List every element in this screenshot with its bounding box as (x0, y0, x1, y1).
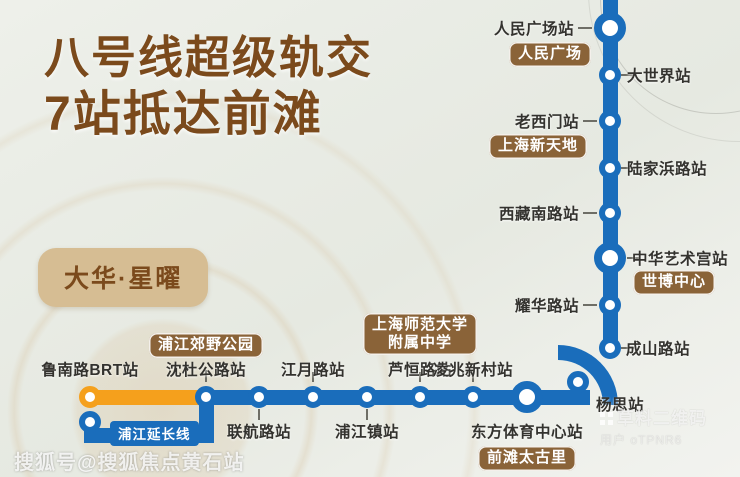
poi-badge-renmin-guangchang: 人民广场 (509, 42, 591, 67)
station-label-shendu-gonglu: 沈杜公路站 (166, 358, 246, 380)
station-dot-lujiabang[interactable] (599, 157, 621, 179)
station-dot-shendu-gonglu[interactable] (195, 386, 217, 408)
station-label-zhonghua-yishugong: 中华艺术宫站 (632, 247, 728, 269)
poi-line-2: 附属中学 (388, 334, 452, 351)
station-label-jiangyuelu: 江月路站 (281, 358, 345, 380)
headline-line-1: 八号线超级轨交 (44, 34, 373, 82)
leader-tick (366, 409, 368, 420)
station-dot-lunanlu-brt[interactable] (79, 386, 101, 408)
station-dot-dongfang-tiyu-zhongxin[interactable] (511, 381, 543, 413)
leader-tick (583, 120, 597, 122)
poi-badge-shanghai-shifan-fuzhong: 上海师范大学 附属中学 (363, 313, 477, 355)
leader-tick (578, 27, 592, 29)
caoliao-watermark-text: 草料二维码 (617, 409, 707, 428)
station-dot-luhenglu[interactable] (409, 386, 431, 408)
station-dot-laoximen[interactable] (599, 110, 621, 132)
leader-tick (258, 409, 260, 420)
station-label-yaohualu: 耀华路站 (515, 294, 579, 316)
metro-line-poster: 八号线超级轨交 7站抵达前滩 大华·星曜 浦江延长线 人民广场站 人民广场 大世… (0, 0, 740, 477)
station-dot-lianhanglu[interactable] (248, 386, 270, 408)
station-dot-lingzhao-xincun[interactable] (462, 386, 484, 408)
station-label-dashijie: 大世界站 (627, 64, 691, 86)
headline-block: 八号线超级轨交 7站抵达前滩 (44, 34, 373, 141)
station-dot-jiangyuelu[interactable] (302, 386, 324, 408)
station-label-lunanlu-brt: 鲁南路BRT站 (41, 358, 138, 380)
project-name-badge: 大华·星曜 (38, 248, 208, 307)
station-dot-yangsi[interactable] (567, 371, 589, 393)
poi-line-1: 上海师范大学 (372, 316, 468, 333)
station-label-lingzhao-xincun: 凌兆新村站 (433, 358, 513, 380)
headline-line-2: 7站抵达前滩 (44, 90, 373, 141)
station-dot-loop-terminus[interactable] (79, 411, 101, 433)
caoliao-watermark-title: 草料二维码 (600, 404, 707, 429)
station-label-lianhanglu: 联航路站 (227, 420, 291, 442)
metro-line-orange-branch (84, 390, 208, 405)
station-dot-dashijie[interactable] (599, 64, 621, 86)
station-dot-yaohualu[interactable] (599, 294, 621, 316)
poi-badge-qiantan-taikooli: 前滩太古里 (478, 446, 576, 471)
station-dot-pujiangzhen[interactable] (356, 386, 378, 408)
station-label-renmin-guangchang: 人民广场站 (494, 17, 574, 39)
station-label-xizangnan: 西藏南路站 (499, 202, 579, 224)
sohu-watermark: 搜狐号@搜狐焦点黄石站 (14, 446, 245, 475)
station-dot-chengshanlu[interactable] (599, 337, 621, 359)
station-label-pujiangzhen: 浦江镇站 (335, 420, 399, 442)
leader-tick (583, 212, 597, 214)
station-dot-xizangnan[interactable] (599, 202, 621, 224)
pujiang-extension-pill: 浦江延长线 (110, 421, 199, 446)
station-label-dongfang-tiyu-zhongxin: 东方体育中心站 (471, 420, 583, 442)
station-dot-zhonghua-yishugong[interactable] (594, 242, 626, 274)
station-label-laoximen: 老西门站 (515, 110, 579, 132)
caoliao-watermark: 草料二维码 用户 oTPNR6 (600, 404, 707, 448)
station-dot-renmin-guangchang[interactable] (594, 12, 626, 44)
caoliao-watermark-user: 用户 oTPNR6 (600, 431, 707, 448)
station-label-lujiabang: 陆家浜路站 (627, 157, 707, 179)
station-label-chengshanlu: 成山路站 (626, 337, 690, 359)
leader-tick (583, 304, 597, 306)
poi-badge-pujiang-jiaoye-gongyuan: 浦江郊野公园 (149, 333, 263, 358)
qr-code-icon (600, 412, 613, 425)
poi-badge-xintiandi: 上海新天地 (489, 134, 587, 159)
poi-badge-shibo-zhongxin: 世博中心 (633, 270, 715, 295)
